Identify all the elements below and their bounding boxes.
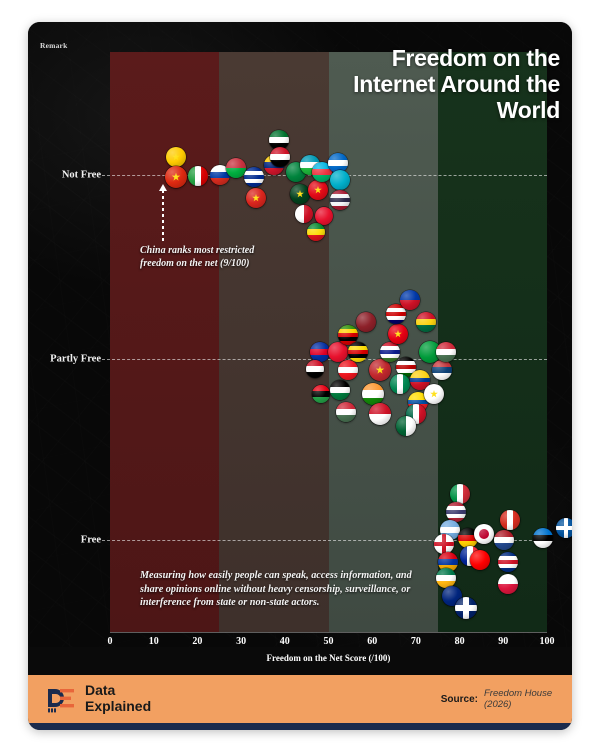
flag-marker	[369, 403, 391, 425]
flag-marker	[498, 574, 518, 594]
x-tick-0: 0	[108, 636, 113, 647]
flag-marker	[494, 530, 514, 550]
china-annotation: China ranks most restricted freedom on t…	[140, 244, 290, 270]
source-value: Freedom House (2026)	[484, 688, 554, 711]
flag-marker	[450, 484, 470, 504]
flag-marker	[533, 528, 553, 548]
chart-caption: Measuring how easily people can speak, a…	[140, 569, 420, 610]
flag-marker	[165, 166, 187, 188]
flag-marker	[362, 383, 384, 405]
brand-name: Data Explained	[85, 683, 151, 714]
flag-marker	[312, 385, 330, 403]
flag-marker	[416, 312, 436, 332]
flag-marker	[470, 550, 490, 570]
x-tick-80: 80	[455, 636, 465, 647]
flag-marker	[330, 380, 350, 400]
flag-marker	[556, 518, 572, 538]
chart-panel: Remark Not FreePartly FreeFree Freedom o…	[28, 22, 572, 647]
page-title: Freedom on the Internet Around the World	[310, 46, 560, 123]
x-axis-line	[110, 632, 547, 633]
band-not-free	[110, 52, 219, 632]
source-credit: Source: Freedom House (2026)	[441, 688, 554, 711]
footer-bar: Data Explained Source: Freedom House (20…	[28, 675, 572, 723]
x-tick-40: 40	[280, 636, 290, 647]
x-tick-100: 100	[540, 636, 555, 647]
y-label-not-free: Not Free	[62, 170, 101, 181]
flag-marker	[348, 342, 368, 362]
flag-marker	[246, 188, 266, 208]
brand-line-1: Data	[85, 683, 151, 699]
flag-marker	[308, 180, 328, 200]
flag-marker	[424, 384, 444, 404]
flag-marker	[336, 402, 356, 422]
source-label: Source:	[441, 694, 478, 705]
brand-logo[interactable]: Data Explained	[46, 683, 151, 714]
flag-marker	[500, 510, 520, 530]
flag-marker	[290, 184, 310, 204]
x-tick-20: 20	[192, 636, 202, 647]
flag-marker	[328, 342, 348, 362]
flag-marker	[295, 205, 313, 223]
x-tick-90: 90	[498, 636, 508, 647]
flag-marker	[400, 290, 420, 310]
flag-marker	[396, 416, 416, 436]
bottom-bar: www.dataexplained.com @dataexplain	[28, 723, 572, 730]
flag-marker	[306, 360, 324, 378]
flag-marker	[356, 312, 376, 332]
flag-marker	[166, 147, 186, 167]
x-axis-title: Freedom on the Net Score (/100)	[110, 653, 547, 663]
flag-marker	[455, 597, 477, 619]
annotation-arrow-icon	[162, 190, 164, 242]
x-tick-50: 50	[324, 636, 334, 647]
flag-marker	[226, 158, 246, 178]
x-tick-30: 30	[236, 636, 246, 647]
y-label-partly-free: Partly Free	[50, 354, 101, 365]
flag-marker	[307, 223, 325, 241]
brand-line-2: Explained	[85, 699, 151, 715]
y-label-free: Free	[81, 535, 101, 546]
flag-marker	[244, 167, 264, 187]
de-monogram-icon	[46, 685, 76, 713]
flag-marker	[310, 342, 330, 362]
flag-marker	[330, 170, 350, 190]
flag-marker	[432, 360, 452, 380]
flag-marker	[338, 360, 358, 380]
flag-marker	[436, 342, 456, 362]
x-tick-60: 60	[367, 636, 377, 647]
flag-marker	[498, 552, 518, 572]
flag-marker	[436, 568, 456, 588]
flag-marker	[390, 374, 410, 394]
flag-marker	[446, 502, 466, 522]
infographic-card: Remark Not FreePartly FreeFree Freedom o…	[28, 22, 572, 730]
x-tick-10: 10	[149, 636, 159, 647]
flag-marker	[369, 359, 391, 381]
flag-marker	[388, 324, 408, 344]
flag-marker	[330, 190, 350, 210]
flag-marker	[188, 166, 208, 186]
flag-marker	[434, 534, 454, 554]
remark-label: Remark	[40, 41, 67, 50]
flag-marker	[474, 524, 494, 544]
x-tick-70: 70	[411, 636, 421, 647]
plot-area: Not FreePartly FreeFree	[110, 52, 547, 632]
